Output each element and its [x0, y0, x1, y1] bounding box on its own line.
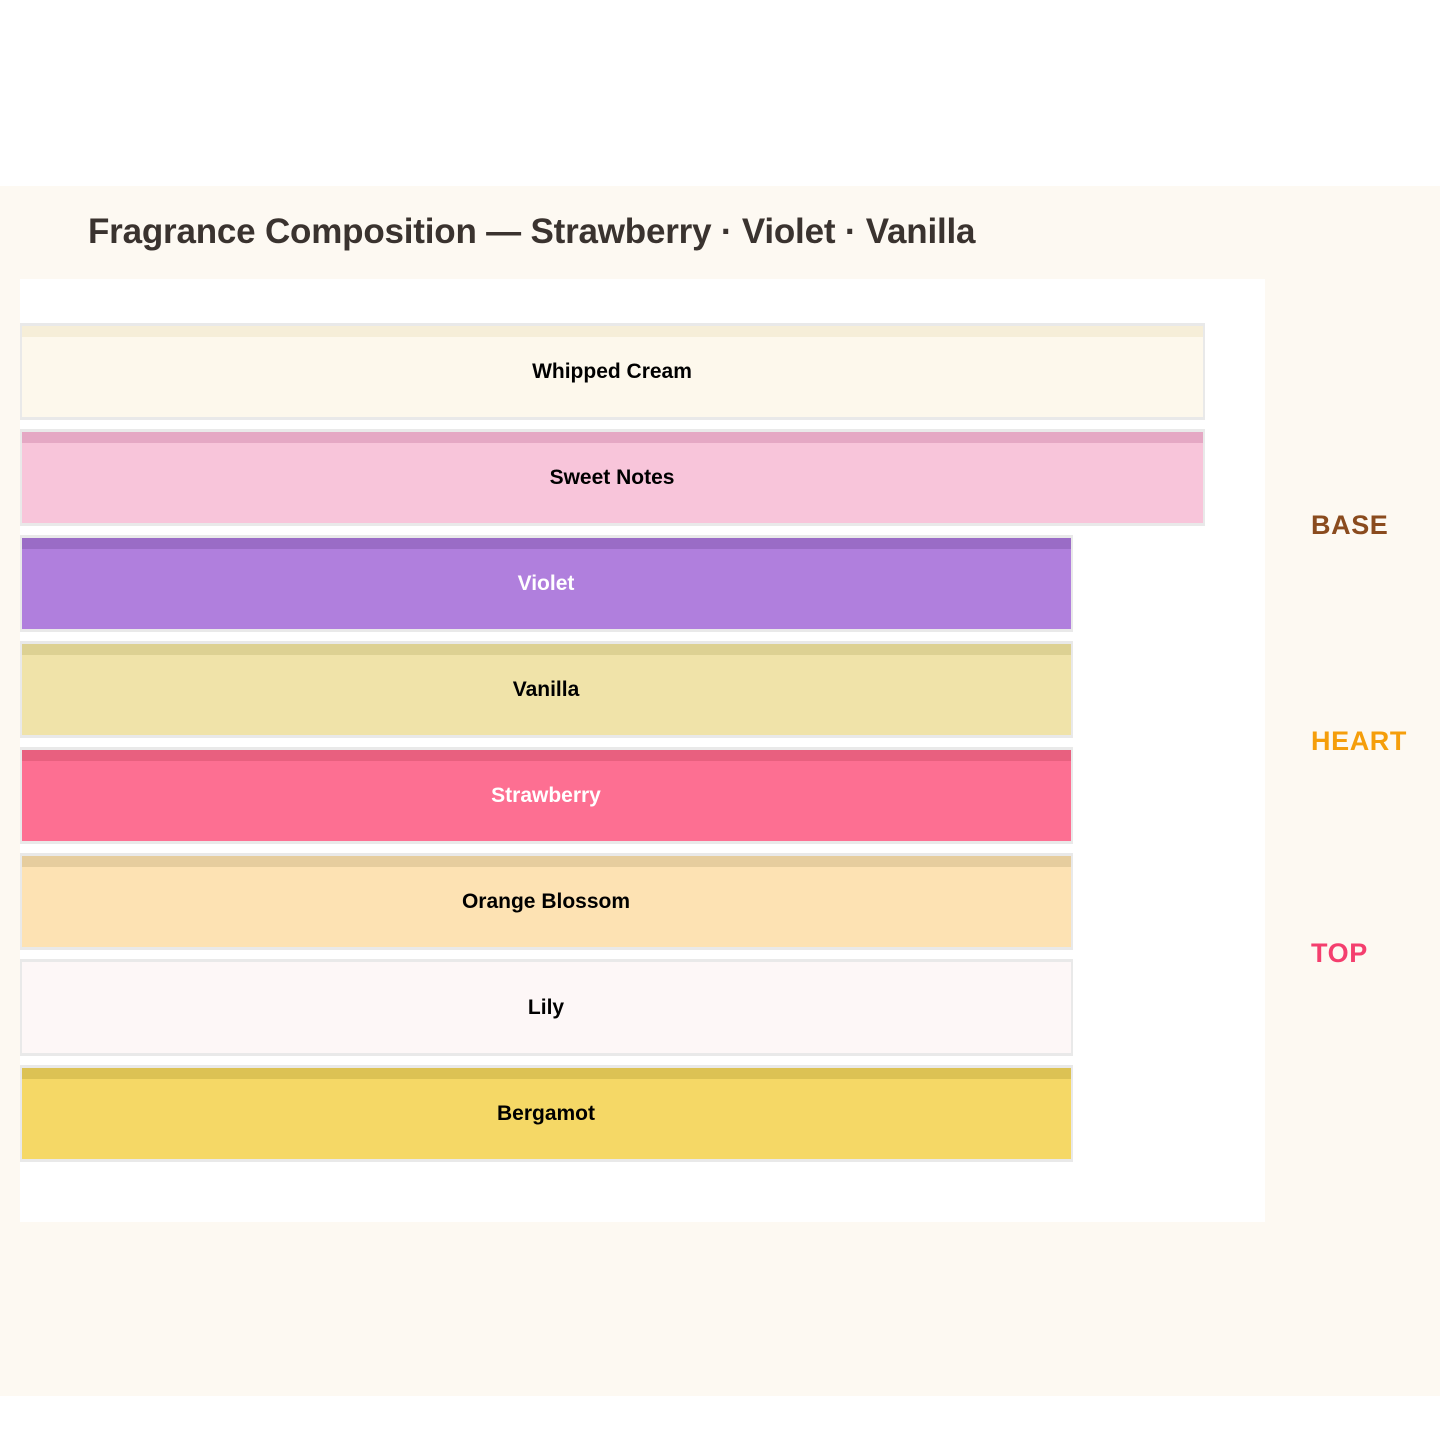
note-bar-row[interactable]: Vanilla [20, 641, 1073, 738]
note-bar-row[interactable]: Strawberry [20, 747, 1073, 844]
stage-label-top: TOP [1311, 937, 1368, 969]
bar-top-highlight [22, 856, 1071, 867]
plot-panel: Whipped CreamSweet NotesVioletVanillaStr… [20, 279, 1265, 1222]
bar-top-highlight [22, 538, 1071, 549]
bar-fill [22, 326, 1203, 417]
bar-top-highlight [22, 1068, 1071, 1079]
bar-top-highlight [22, 962, 1071, 973]
fragrance-composition-figure: Fragrance Composition — Strawberry · Vio… [0, 0, 1440, 1440]
bar-fill [22, 1068, 1071, 1159]
bar-fill [22, 644, 1071, 735]
stage-label-heart: HEART [1311, 725, 1407, 757]
note-bar-row[interactable]: Orange Blossom [20, 853, 1073, 950]
figure-bottom-margin [0, 1396, 1440, 1440]
bar-fill [22, 962, 1071, 1053]
bar-top-highlight [22, 326, 1203, 337]
note-bar-row[interactable]: Sweet Notes [20, 429, 1205, 526]
bar-fill [22, 432, 1203, 523]
bar-top-highlight [22, 750, 1071, 761]
stage-label-base: BASE [1311, 509, 1388, 541]
bar-fill [22, 856, 1071, 947]
note-bar-row[interactable]: Bergamot [20, 1065, 1073, 1162]
note-bar-row[interactable]: Lily [20, 959, 1073, 1056]
bar-fill [22, 750, 1071, 841]
note-bar-row[interactable]: Whipped Cream [20, 323, 1205, 420]
bar-top-highlight [22, 432, 1203, 443]
bar-top-highlight [22, 644, 1071, 655]
note-bar-row[interactable]: Violet [20, 535, 1073, 632]
bar-fill [22, 538, 1071, 629]
page-title: Fragrance Composition — Strawberry · Vio… [88, 206, 1248, 258]
figure-top-margin [0, 0, 1440, 186]
